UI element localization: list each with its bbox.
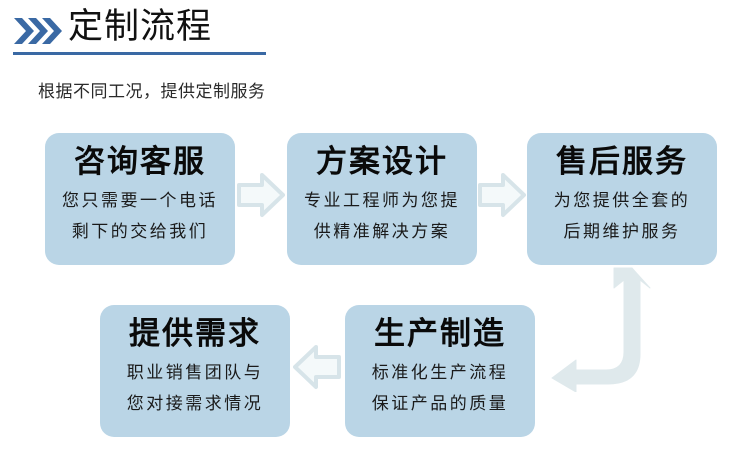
flow-step-description-line: 标准化生产流程 xyxy=(345,358,535,389)
flow-step-description-line: 为您提供全套的 xyxy=(527,186,717,217)
page-header: 定制流程 xyxy=(0,0,750,62)
flow-step-card-5[interactable]: 生产制造 标准化生产流程 保证产品的质量 xyxy=(345,305,535,437)
title-underline xyxy=(13,52,266,55)
flow-step-description-line: 您只需要一个电话 xyxy=(45,186,235,217)
triple-chevron-right-icon xyxy=(14,18,64,44)
page-title: 定制流程 xyxy=(68,7,212,47)
flow-step-card-4[interactable]: 提供需求 职业销售团队与 您对接需求情况 xyxy=(100,305,290,437)
arrow-right-icon xyxy=(478,172,526,218)
flow-step-description-line: 后期维护服务 xyxy=(527,217,717,248)
flow-step-title: 提供需求 xyxy=(100,314,290,354)
flow-step-card-3[interactable]: 售后服务 为您提供全套的 后期维护服务 xyxy=(527,133,717,265)
flow-step-description: 专业工程师为您提 供精准解决方案 xyxy=(287,186,477,248)
flow-step-title: 咨询客服 xyxy=(45,142,235,182)
flow-step-description-line: 供精准解决方案 xyxy=(287,217,477,248)
flow-step-description: 为您提供全套的 后期维护服务 xyxy=(527,186,717,248)
flow-step-description-line: 您对接需求情况 xyxy=(100,389,290,420)
arrow-uturn-down-left-icon xyxy=(548,266,668,392)
flow-step-description: 职业销售团队与 您对接需求情况 xyxy=(100,358,290,420)
flow-step-description-line: 剩下的交给我们 xyxy=(45,217,235,248)
flow-step-description-line: 专业工程师为您提 xyxy=(287,186,477,217)
flow-step-card-1[interactable]: 咨询客服 您只需要一个电话 剩下的交给我们 xyxy=(45,133,235,265)
flow-step-description: 您只需要一个电话 剩下的交给我们 xyxy=(45,186,235,248)
flow-step-description: 标准化生产流程 保证产品的质量 xyxy=(345,358,535,420)
flow-step-title: 方案设计 xyxy=(287,142,477,182)
arrow-left-icon xyxy=(293,344,341,390)
flow-step-description-line: 职业销售团队与 xyxy=(100,358,290,389)
flow-step-title: 售后服务 xyxy=(527,142,717,182)
flow-step-title: 生产制造 xyxy=(345,314,535,354)
flow-step-description-line: 保证产品的质量 xyxy=(345,389,535,420)
arrow-right-icon xyxy=(237,172,285,218)
page-subtitle: 根据不同工况，提供定制服务 xyxy=(38,80,266,104)
flow-step-card-2[interactable]: 方案设计 专业工程师为您提 供精准解决方案 xyxy=(287,133,477,265)
